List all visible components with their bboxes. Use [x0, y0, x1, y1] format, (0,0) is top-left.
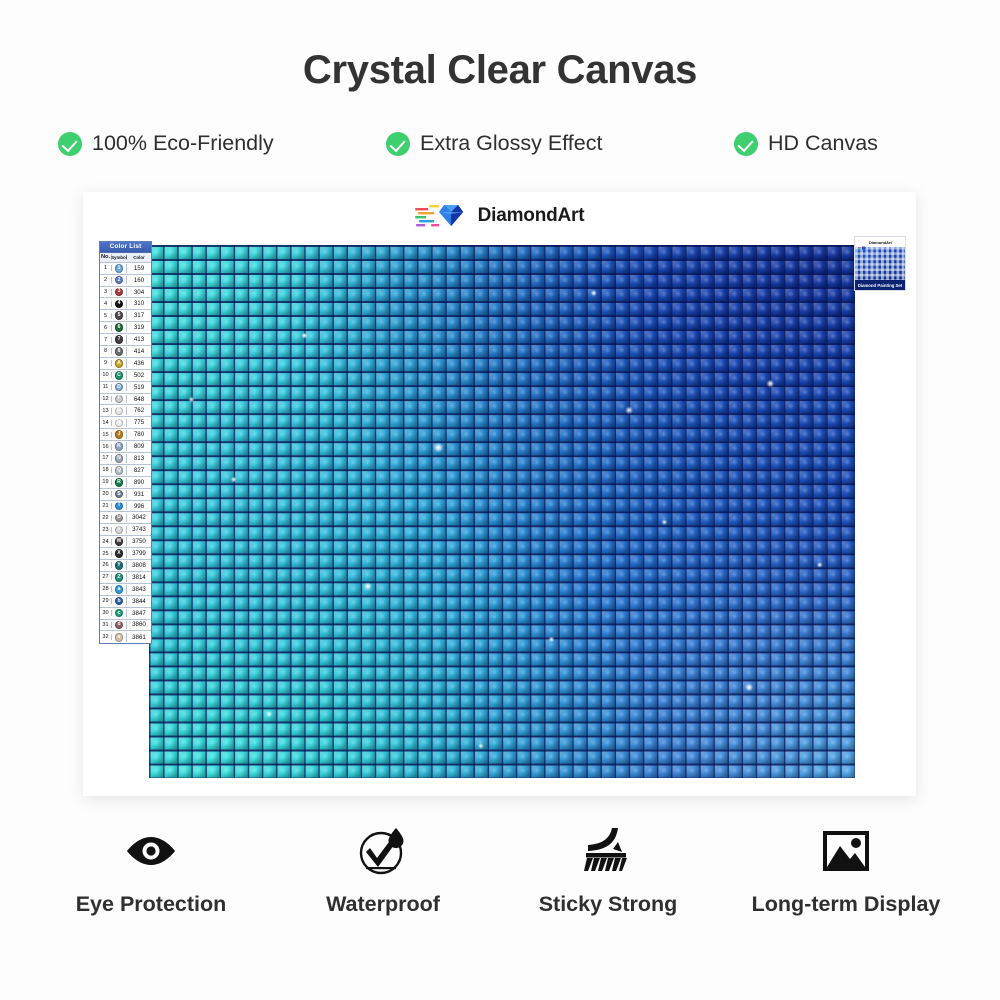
symbol-badge-icon: D	[115, 383, 124, 392]
color-row-symbol-cell: 5	[112, 311, 127, 320]
color-row-code: 319	[127, 324, 151, 331]
color-row-code: 890	[127, 479, 151, 486]
color-row-symbol-cell: T	[112, 502, 127, 511]
color-list-row: 44310	[100, 298, 151, 310]
symbol-badge-icon: K	[115, 442, 124, 451]
bullet-label: Extra Glossy Effect	[420, 131, 602, 156]
symbol-badge-icon: Y	[115, 561, 124, 570]
color-row-code: 3861	[127, 634, 151, 641]
color-row-code: 3847	[127, 610, 151, 617]
color-row-number: 8	[100, 348, 112, 354]
color-list-row: 25X3799	[100, 548, 151, 560]
feature-waterproof: Waterproof	[272, 826, 494, 917]
feature-eye-protection: Eye Protection	[30, 826, 272, 917]
sticky-brush-icon	[582, 826, 634, 876]
symbol-badge-icon: X	[115, 549, 124, 558]
color-row-number: 19	[100, 479, 112, 485]
symbol-badge-icon: 6	[115, 323, 124, 332]
color-row-symbol-cell: H	[112, 419, 127, 428]
color-row-symbol-cell: D	[112, 383, 127, 392]
symbol-badge-icon: Q	[115, 466, 124, 475]
color-row-symbol-cell: S	[112, 490, 127, 499]
color-row-number: 6	[100, 325, 112, 331]
symbol-badge-icon: b	[115, 597, 124, 606]
color-list-row: 31d3860	[100, 620, 151, 632]
color-row-number: 31	[100, 622, 112, 628]
symbol-badge-icon: T	[115, 502, 124, 511]
feature-label: Waterproof	[326, 892, 440, 917]
color-row-symbol-cell: 8	[112, 347, 127, 356]
color-row-code: 3843	[127, 586, 151, 593]
color-row-symbol-cell: c	[112, 609, 127, 618]
brand-logo: DiamondArt	[415, 202, 585, 230]
color-row-code: 809	[127, 443, 151, 450]
color-row-code: 3042	[127, 514, 151, 521]
symbol-badge-icon: W	[115, 537, 124, 546]
color-list-row: 16K809	[100, 441, 151, 453]
color-row-number: 23	[100, 527, 112, 533]
color-list-row: 11159	[100, 263, 151, 275]
feature-label: Eye Protection	[76, 892, 227, 917]
color-row-symbol-cell: 7	[112, 335, 127, 344]
color-list-row: 26Y3808	[100, 560, 151, 572]
color-row-symbol-cell: J	[112, 430, 127, 439]
diamond-logo-icon	[858, 239, 867, 245]
color-row-number: 21	[100, 503, 112, 509]
color-row-symbol-cell: Y	[112, 561, 127, 570]
color-row-code: 996	[127, 503, 151, 510]
color-list-row: 23V3743	[100, 524, 151, 536]
color-row-code: 3750	[127, 538, 151, 545]
color-row-code: 3844	[127, 598, 151, 605]
color-list-row: 30c3847	[100, 608, 151, 620]
color-row-number: 28	[100, 586, 112, 592]
color-row-number: 12	[100, 396, 112, 402]
product-feature-page: Crystal Clear Canvas 100% Eco-Friendly E…	[0, 0, 1000, 1000]
color-row-symbol-cell: 1	[112, 264, 127, 273]
color-row-number: 14	[100, 420, 112, 426]
color-list-row: 15J780	[100, 429, 151, 441]
diamond-mosaic-artwork	[149, 245, 855, 778]
color-row-number: 7	[100, 337, 112, 343]
symbol-badge-icon: a	[115, 585, 124, 594]
color-row-number: 29	[100, 598, 112, 604]
bullet-hd-canvas: HD Canvas	[734, 131, 948, 156]
color-list-row: 13G762	[100, 405, 151, 417]
color-list-row: 12F648	[100, 394, 151, 406]
color-row-symbol-cell: a	[112, 585, 127, 594]
column-header-symbol: Symbol	[112, 255, 127, 260]
color-list-title: Color List	[100, 242, 151, 253]
color-row-code: 813	[127, 455, 151, 462]
feature-long-term-display: Long-term Display	[722, 826, 970, 917]
column-header-color: Color	[127, 255, 151, 260]
color-row-number: 27	[100, 574, 112, 580]
color-row-number: 15	[100, 432, 112, 438]
color-list-row: 24W3750	[100, 536, 151, 548]
color-row-number: 4	[100, 301, 112, 307]
color-row-number: 10	[100, 372, 112, 378]
symbol-badge-icon: G	[115, 407, 124, 416]
color-list-row: 19R890	[100, 477, 151, 489]
symbol-badge-icon: 1	[115, 264, 124, 273]
symbol-badge-icon: d	[115, 621, 124, 630]
color-list-row: 22160	[100, 275, 151, 287]
diamond-logo-icon	[415, 202, 471, 230]
color-list-row: 77413	[100, 334, 151, 346]
bullet-eco-friendly: 100% Eco-Friendly	[58, 131, 386, 156]
color-list-row: 88414	[100, 346, 151, 358]
color-row-symbol-cell: Z	[112, 573, 127, 582]
feature-bullet-list: 100% Eco-Friendly Extra Glossy Effect HD…	[58, 131, 948, 156]
color-row-symbol-cell: d	[112, 621, 127, 630]
color-row-code: 775	[127, 419, 151, 426]
symbol-badge-icon: 7	[115, 335, 124, 344]
image-icon	[822, 826, 870, 876]
color-row-code: 519	[127, 384, 151, 391]
feature-sticky-strong: Sticky Strong	[494, 826, 722, 917]
symbol-badge-icon: H	[115, 419, 124, 428]
symbol-badge-icon: A	[115, 359, 124, 368]
droplet-check-icon	[357, 826, 409, 876]
symbol-badge-icon: 5	[115, 311, 124, 320]
color-list-row: 28a3843	[100, 584, 151, 596]
symbol-badge-icon: U	[115, 514, 124, 523]
color-row-symbol-cell: 4	[112, 300, 127, 309]
color-row-code: 827	[127, 467, 151, 474]
color-row-number: 24	[100, 539, 112, 545]
color-row-symbol-cell: b	[112, 597, 127, 606]
color-row-number: 9	[100, 360, 112, 366]
symbol-badge-icon: J	[115, 430, 124, 439]
color-row-number: 17	[100, 455, 112, 461]
bullet-glossy-effect: Extra Glossy Effect	[386, 131, 734, 156]
color-list-row: 17N813	[100, 453, 151, 465]
color-row-symbol-cell: Q	[112, 466, 127, 475]
bottom-feature-row: Eye Protection Waterproof	[30, 826, 970, 917]
color-row-code: 502	[127, 372, 151, 379]
color-list-row: 55317	[100, 310, 151, 322]
mosaic-sparkle-layer	[149, 245, 855, 778]
color-row-number: 2	[100, 277, 112, 283]
color-row-code: 931	[127, 491, 151, 498]
check-circle-icon	[734, 132, 758, 156]
brand-name: DiamondArt	[478, 205, 585, 227]
color-row-code: 3808	[127, 562, 151, 569]
color-row-number: 22	[100, 515, 112, 521]
color-row-symbol-cell: e	[112, 633, 127, 642]
color-row-code: 3799	[127, 550, 151, 557]
color-row-code: 413	[127, 336, 151, 343]
symbol-badge-icon: S	[115, 490, 124, 499]
color-row-code: 3743	[127, 526, 151, 533]
color-list-row: 32e3861	[100, 631, 151, 643]
color-row-code: 159	[127, 265, 151, 272]
symbol-badge-icon: e	[115, 633, 124, 642]
color-list-row: 33304	[100, 287, 151, 299]
color-row-code: 304	[127, 289, 151, 296]
color-row-number: 1	[100, 265, 112, 271]
symbol-badge-icon: C	[115, 371, 124, 380]
color-row-symbol-cell: W	[112, 537, 127, 546]
symbol-badge-icon: 3	[115, 288, 124, 297]
color-list-table: Color List No. Symbol Color 111592216033…	[99, 241, 152, 644]
color-list-row: 20S931	[100, 489, 151, 501]
feature-label: Long-term Display	[752, 892, 941, 917]
color-row-number: 25	[100, 551, 112, 557]
color-row-code: 414	[127, 348, 151, 355]
color-row-symbol-cell: R	[112, 478, 127, 487]
color-list-row: 27Z3814	[100, 572, 151, 584]
color-list-row: 29b3844	[100, 596, 151, 608]
color-row-code: 310	[127, 300, 151, 307]
check-circle-icon	[386, 132, 410, 156]
color-list-row: 21T996	[100, 501, 151, 513]
color-list-row: 66319	[100, 322, 151, 334]
color-row-code: 762	[127, 407, 151, 414]
color-row-number: 20	[100, 491, 112, 497]
eye-icon	[123, 826, 179, 876]
color-list-row: 22U3042	[100, 512, 151, 524]
package-thumbnail: DiamondArt Diamond Painting Set	[854, 236, 906, 291]
color-row-symbol-cell: U	[112, 514, 127, 523]
color-row-symbol-cell: K	[112, 442, 127, 451]
symbol-badge-icon: V	[115, 526, 124, 535]
color-row-symbol-cell: X	[112, 549, 127, 558]
color-list-row: 14H775	[100, 417, 151, 429]
color-row-symbol-cell: F	[112, 395, 127, 404]
color-row-number: 11	[100, 384, 112, 390]
color-row-symbol-cell: C	[112, 371, 127, 380]
color-row-number: 13	[100, 408, 112, 414]
symbol-badge-icon: 2	[115, 276, 124, 285]
color-row-code: 160	[127, 277, 151, 284]
color-row-code: 3814	[127, 574, 151, 581]
color-row-number: 3	[100, 289, 112, 295]
bullet-label: 100% Eco-Friendly	[92, 131, 274, 156]
color-row-code: 3860	[127, 621, 151, 628]
color-row-symbol-cell: A	[112, 359, 127, 368]
package-brand-name: DiamondArt	[869, 240, 892, 245]
color-row-number: 26	[100, 562, 112, 568]
color-row-symbol-cell: 6	[112, 323, 127, 332]
check-circle-icon	[58, 132, 82, 156]
color-list-row: 18Q827	[100, 465, 151, 477]
color-list-body: 1115922160333044431055317663197741388414…	[100, 263, 151, 644]
color-row-number: 32	[100, 634, 112, 640]
color-row-symbol-cell: G	[112, 407, 127, 416]
color-row-symbol-cell: V	[112, 526, 127, 535]
color-list-row: 10C502	[100, 370, 151, 382]
color-row-code: 780	[127, 431, 151, 438]
color-list-row: 9A436	[100, 358, 151, 370]
color-row-symbol-cell: 3	[112, 288, 127, 297]
color-row-number: 30	[100, 610, 112, 616]
canvas-preview-card: DiamondArt Color List No. Symbol Color 1…	[83, 192, 916, 796]
page-title: Crystal Clear Canvas	[0, 48, 1000, 93]
color-row-code: 648	[127, 396, 151, 403]
color-row-symbol-cell: N	[112, 454, 127, 463]
color-row-number: 16	[100, 444, 112, 450]
symbol-badge-icon: 4	[115, 300, 124, 309]
package-thumbnail-header: DiamondArt	[855, 237, 905, 247]
package-caption: Diamond Painting Set	[855, 280, 905, 291]
bullet-label: HD Canvas	[768, 131, 878, 156]
color-row-code: 436	[127, 360, 151, 367]
color-row-number: 5	[100, 313, 112, 319]
symbol-badge-icon: N	[115, 454, 124, 463]
symbol-badge-icon: 8	[115, 347, 124, 356]
color-list-row: 11D519	[100, 382, 151, 394]
color-row-symbol-cell: 2	[112, 276, 127, 285]
symbol-badge-icon: Z	[115, 573, 124, 582]
color-row-number: 18	[100, 467, 112, 473]
color-list-header-row: No. Symbol Color	[100, 253, 151, 263]
symbol-badge-icon: F	[115, 395, 124, 404]
feature-label: Sticky Strong	[539, 892, 678, 917]
symbol-badge-icon: c	[115, 609, 124, 618]
color-row-code: 317	[127, 312, 151, 319]
symbol-badge-icon: R	[115, 478, 124, 487]
